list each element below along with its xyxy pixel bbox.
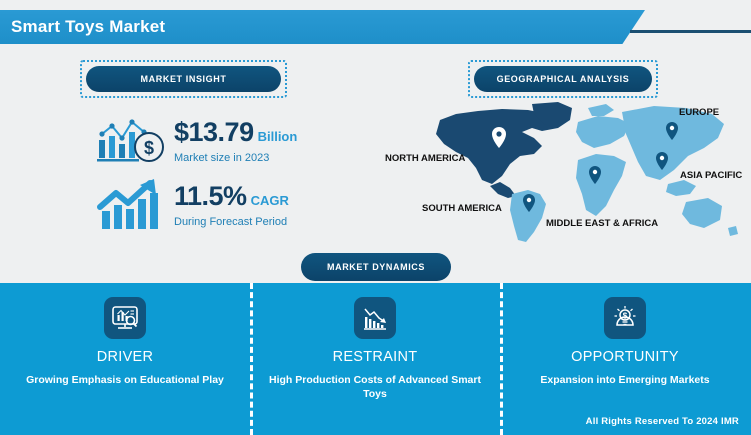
lightbulb-dollar-icon: $ xyxy=(604,297,646,339)
geographical-analysis-badge: GEOGRAPHICAL ANALYSIS xyxy=(468,60,658,98)
dynamics-divider-2 xyxy=(500,283,503,435)
cagr-value: 11.5% xyxy=(174,183,247,210)
restraint-title: RESTRAINT xyxy=(333,349,418,365)
opportunity-title: OPPORTUNITY xyxy=(571,349,679,365)
map-region-africa xyxy=(576,154,626,216)
footer-copyright: All Rights Reserved To 2024 IMR xyxy=(586,416,739,427)
svg-text:$: $ xyxy=(623,312,628,321)
market-insight-badge-inner: MARKET INSIGHT xyxy=(86,66,281,92)
map-label-south-america: SOUTH AMERICA xyxy=(422,203,502,214)
restraint-description: High Production Costs of Advanced Smart … xyxy=(265,373,485,401)
market-size-unit: Billion xyxy=(254,130,298,143)
dynamics-column-driver: DRIVER Growing Emphasis on Educational P… xyxy=(0,283,250,435)
stat-cagr-text: 11.5% CAGR During Forecast Period xyxy=(168,183,289,228)
cagr-subtitle: During Forecast Period xyxy=(174,210,289,228)
cagr-unit: CAGR xyxy=(247,194,289,207)
market-dynamics-label: MARKET DYNAMICS xyxy=(327,262,425,272)
market-dynamics-band: DRIVER Growing Emphasis on Educational P… xyxy=(0,283,751,435)
map-label-north-america: NORTH AMERICA xyxy=(385,153,465,164)
map-region-australia xyxy=(682,198,722,228)
svg-text:$: $ xyxy=(144,138,154,158)
stat-market-size-text: $13.79 Billion Market size in 2023 xyxy=(168,119,297,164)
monitor-analytics-search-icon xyxy=(104,297,146,339)
page-title: Smart Toys Market xyxy=(0,17,165,37)
map-region-southeast-asia xyxy=(666,180,696,196)
driver-title: DRIVER xyxy=(97,349,154,365)
market-insight-label: MARKET INSIGHT xyxy=(141,74,227,84)
stat-market-size: $ $13.79 Billion Market size in 2023 xyxy=(92,112,297,170)
header-banner: Smart Toys Market xyxy=(0,10,645,44)
header: Smart Toys Market xyxy=(0,10,751,44)
dynamics-column-restraint: RESTRAINT High Production Costs of Advan… xyxy=(250,283,500,435)
map-label-asia-pacific: ASIA PACIFIC xyxy=(680,170,742,181)
dynamics-divider-1 xyxy=(250,283,253,435)
geographical-analysis-label: GEOGRAPHICAL ANALYSIS xyxy=(497,74,630,84)
map-label-middle-east-africa: MIDDLE EAST & AFRICA xyxy=(546,218,658,229)
opportunity-description: Expansion into Emerging Markets xyxy=(540,373,709,387)
geographical-analysis-badge-inner: GEOGRAPHICAL ANALYSIS xyxy=(474,66,652,92)
map-region-new-zealand xyxy=(728,226,738,236)
driver-description: Growing Emphasis on Educational Play xyxy=(26,373,224,387)
market-size-subtitle: Market size in 2023 xyxy=(174,146,297,164)
market-insight-badge: MARKET INSIGHT xyxy=(80,60,287,98)
growth-arrow-chart-icon xyxy=(92,176,168,234)
dynamics-column-opportunity: $ OPPORTUNITY Expansion into Emerging Ma… xyxy=(500,283,750,435)
market-size-value: $13.79 xyxy=(174,119,254,146)
market-dynamics-badge: MARKET DYNAMICS xyxy=(301,253,451,281)
bar-chart-dollar-icon: $ xyxy=(92,112,168,170)
map-label-europe: EUROPE xyxy=(679,107,719,118)
map-region-scandinavia xyxy=(588,104,614,116)
map-region-europe xyxy=(576,116,630,148)
header-rule-line xyxy=(630,30,751,33)
infographic-page: Smart Toys Market MARKET INSIGHT GEOGRAP… xyxy=(0,0,751,435)
stat-cagr: 11.5% CAGR During Forecast Period xyxy=(92,176,289,234)
declining-bar-chart-icon xyxy=(354,297,396,339)
